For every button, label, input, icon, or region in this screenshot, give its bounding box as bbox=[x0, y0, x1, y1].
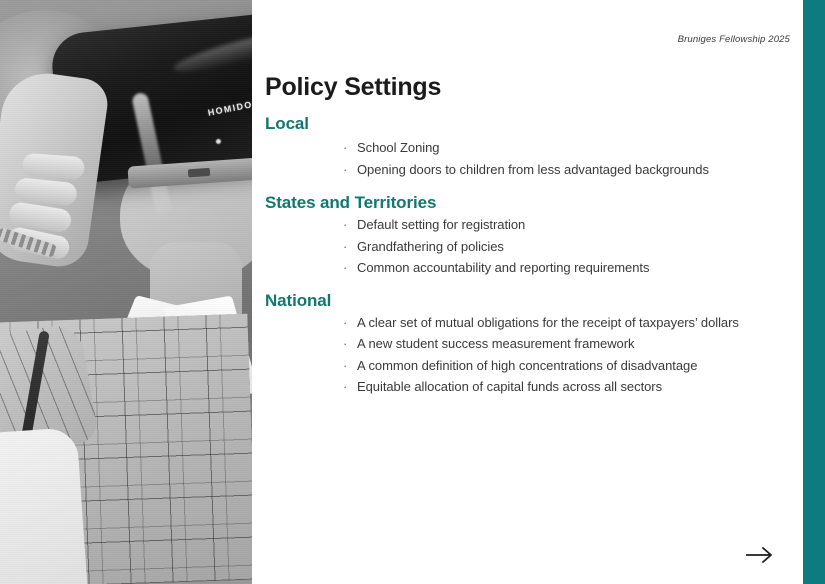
bullet-dot-icon: · bbox=[343, 312, 347, 334]
section-states-and-territories: States and Territories · Default setting… bbox=[265, 193, 785, 279]
list-item: · Opening doors to children from less ad… bbox=[265, 159, 785, 181]
list-item-text: A new student success measurement framew… bbox=[357, 336, 634, 351]
page-title: Policy Settings bbox=[265, 73, 441, 102]
list-item-text: Default setting for registration bbox=[357, 217, 525, 232]
list-item-text: Grandfathering of policies bbox=[357, 239, 504, 254]
next-slide-button[interactable] bbox=[743, 540, 777, 570]
bullet-dot-icon: · bbox=[343, 214, 347, 236]
bullet-dot-icon: · bbox=[343, 376, 347, 398]
slide-kicker: Bruniges Fellowship 2025 bbox=[678, 34, 790, 45]
list-item: · School Zoning bbox=[265, 137, 785, 159]
slide: HOMIDO Bruniges Fellowship 2025 Policy S… bbox=[0, 0, 825, 584]
bullet-dot-icon: · bbox=[343, 159, 347, 181]
vr-headset-indicator-dot bbox=[216, 139, 221, 144]
list-item: · Default setting for registration bbox=[265, 214, 785, 236]
list-item: · A common definition of high concentrat… bbox=[265, 355, 785, 377]
list-item-text: Opening doors to children from less adva… bbox=[357, 162, 709, 177]
bullet-list-national: · A clear set of mutual obligations for … bbox=[265, 312, 785, 398]
list-item-text: Common accountability and reporting requ… bbox=[357, 260, 649, 275]
bullet-list-states-and-territories: · Default setting for registration · Gra… bbox=[265, 214, 785, 279]
bullet-dot-icon: · bbox=[343, 355, 347, 377]
accent-bar-right bbox=[803, 0, 825, 584]
vr-headset-brand-label: HOMIDO bbox=[207, 99, 252, 117]
slide-photo: HOMIDO bbox=[0, 0, 252, 584]
arrow-right-icon bbox=[745, 546, 775, 564]
list-item-text: A clear set of mutual obligations for th… bbox=[357, 315, 739, 330]
section-heading-national: National bbox=[265, 291, 785, 311]
slide-content: Bruniges Fellowship 2025 Policy Settings… bbox=[252, 0, 803, 584]
bullet-dot-icon: · bbox=[343, 257, 347, 279]
section-national: National · A clear set of mutual obligat… bbox=[265, 291, 785, 398]
list-item: · Equitable allocation of capital funds … bbox=[265, 376, 785, 398]
sections-list: Local · School Zoning · Opening doors to… bbox=[265, 114, 785, 412]
list-item: · Common accountability and reporting re… bbox=[265, 257, 785, 279]
bullet-dot-icon: · bbox=[343, 236, 347, 258]
bullet-dot-icon: · bbox=[343, 137, 347, 159]
list-item-text: School Zoning bbox=[357, 140, 439, 155]
section-heading-local: Local bbox=[265, 114, 785, 134]
list-item-text: A common definition of high concentratio… bbox=[357, 358, 697, 373]
vr-headset-top-gloss bbox=[171, 22, 252, 80]
photo-finger bbox=[22, 153, 85, 180]
list-item: · A clear set of mutual obligations for … bbox=[265, 312, 785, 334]
section-local: Local · School Zoning · Opening doors to… bbox=[265, 114, 785, 180]
bullet-dot-icon: · bbox=[343, 333, 347, 355]
list-item: · A new student success measurement fram… bbox=[265, 333, 785, 355]
section-heading-states-and-territories: States and Territories bbox=[265, 193, 785, 213]
photo-white-fabric bbox=[0, 427, 87, 584]
list-item-text: Equitable allocation of capital funds ac… bbox=[357, 379, 662, 394]
list-item: · Grandfathering of policies bbox=[265, 236, 785, 258]
bullet-list-local: · School Zoning · Opening doors to child… bbox=[265, 137, 785, 180]
